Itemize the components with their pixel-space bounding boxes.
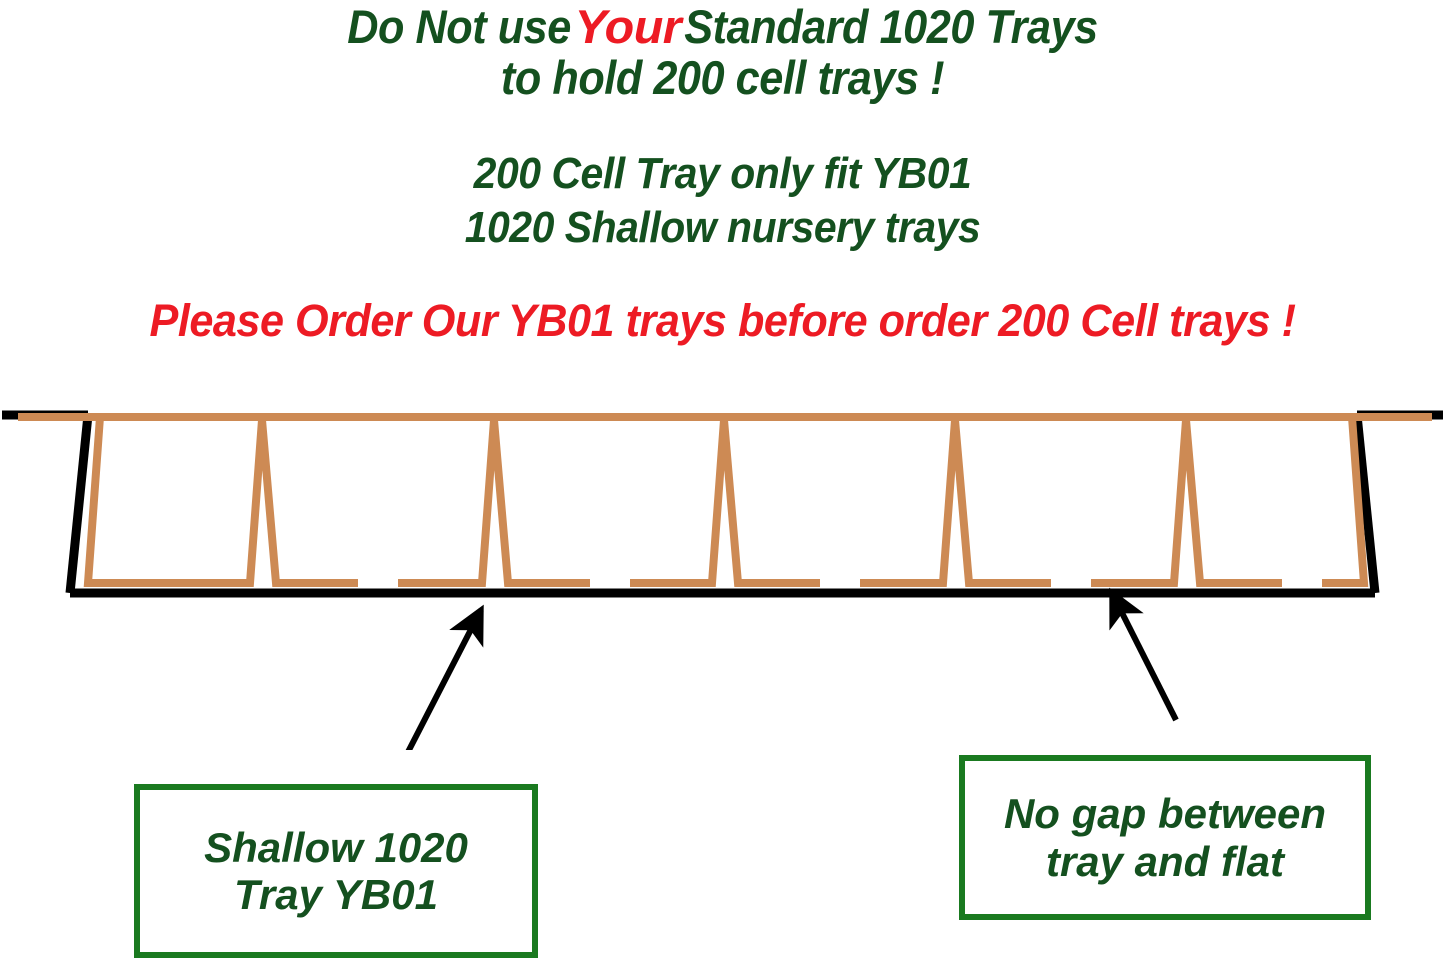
callout-shallow-tray-line-1: Shallow 1020 [204,824,468,871]
callout-no-gap: No gap between tray and flat [959,755,1371,920]
callout-no-gap-line-1: No gap between [1004,790,1326,837]
arrow-to-gap [1112,593,1176,720]
callout-no-gap-line-2: tray and flat [1004,838,1326,885]
annotation-arrows [408,593,1176,750]
headline-order-notice: Please Order Our YB01 trays before order… [29,297,1416,346]
callout-shallow-tray: Shallow 1020 Tray YB01 [134,784,538,958]
cell-tray-cell-4 [860,420,1051,583]
headline-secondary-line-1: 200 Cell Tray only fit YB01 [51,150,1395,198]
cell-tray-outline [18,417,1432,583]
headline-primary-line-2: to hold 200 cell trays ! [58,53,1387,104]
callout-no-gap-text: No gap between tray and flat [1004,790,1326,884]
headline-primary: Do Not useYourStandard 1020 Trays to hol… [58,2,1387,104]
arrow-to-flat [408,610,481,750]
callout-shallow-tray-text: Shallow 1020 Tray YB01 [204,824,468,918]
cell-tray-right-wall [1322,417,1364,583]
cell-tray-cell-2 [398,420,590,583]
headline-primary-line-1: Do Not useYourStandard 1020 Trays [58,2,1387,53]
poster-canvas: Do Not useYourStandard 1020 Trays to hol… [0,0,1445,966]
headline-part-b: Standard 1020 Trays [684,0,1097,53]
cell-tray-cell-5 [1091,420,1282,583]
headline-emphasis-your: Your [564,2,691,53]
headline-part-a: Do Not use [347,0,571,53]
headline-secondary: 200 Cell Tray only fit YB01 1020 Shallow… [51,150,1395,257]
cell-tray-cell-1 [166,420,358,583]
tray-cross-section-diagram [0,390,1445,750]
cell-tray-left-wall [88,417,190,583]
cell-tray-cell-3 [630,420,820,583]
callout-shallow-tray-line-2: Tray YB01 [204,871,468,918]
headline-secondary-line-2: 1020 Shallow nursery trays [51,204,1395,252]
